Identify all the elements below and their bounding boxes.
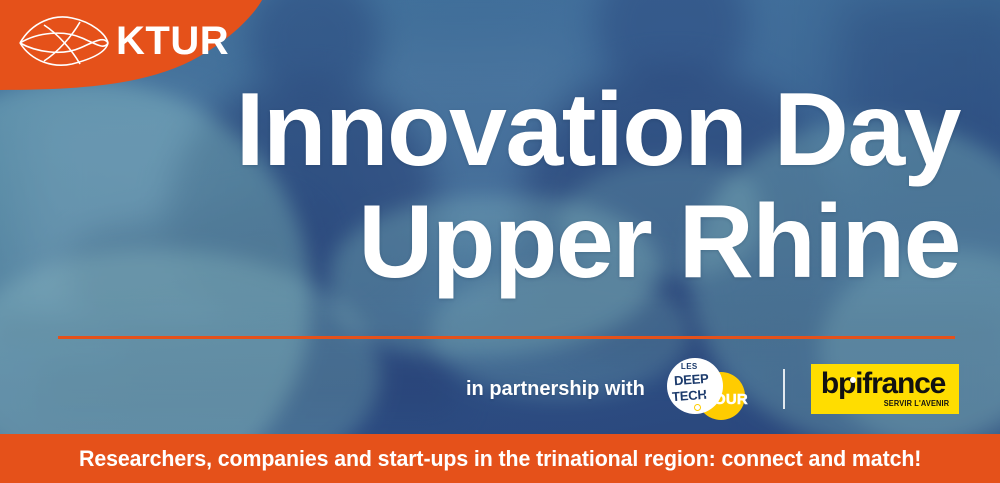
headline-line-2: Upper Rhine (40, 186, 960, 298)
deep-tech-tour-deep-text: DEEP (673, 372, 708, 387)
innovation-day-banner: KTUR Innovation Day Upper Rhine in partn… (0, 0, 1000, 483)
bpifrance-wordmark-text: bpifrance (821, 367, 945, 400)
bpifrance-logo[interactable]: bpifrance SERVIR L'AVENIR (811, 364, 959, 414)
bpifrance-wordmark: bpifrance (821, 369, 945, 399)
partnership-label: in partnership with (466, 378, 645, 401)
partner-vertical-divider (783, 369, 785, 409)
deep-tech-tour-logo[interactable]: LES DEEP TECH TOUR (663, 358, 759, 420)
footer-tagline: Researchers, companies and start-ups in … (79, 446, 921, 472)
partnership-row: in partnership with LES DEEP TECH TOUR b… (466, 356, 959, 422)
bpifrance-tagline: SERVIR L'AVENIR (883, 399, 949, 409)
ktur-leaf-logo-icon (18, 12, 110, 70)
orange-divider-rule (58, 336, 955, 339)
page-title: Innovation Day Upper Rhine (40, 74, 960, 298)
ktur-wordmark: KTUR (116, 16, 229, 66)
footer-banner: Researchers, companies and start-ups in … (0, 434, 1000, 483)
deep-tech-tour-tour-text: TOUR (705, 392, 748, 407)
bpifrance-dot-icon (850, 377, 856, 383)
deep-tech-tour-dot-icon (694, 404, 701, 411)
headline-line-1: Innovation Day (40, 74, 960, 186)
deep-tech-tour-tech-text: TECH (671, 388, 706, 403)
deep-tech-tour-les-text: LES (681, 363, 698, 371)
